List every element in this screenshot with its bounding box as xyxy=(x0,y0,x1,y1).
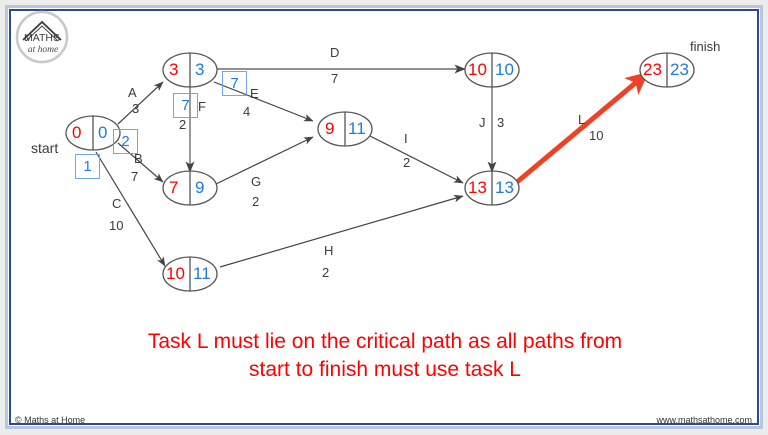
caption-line-2: start to finish must use task L xyxy=(55,356,715,384)
edge-I-duration: 2 xyxy=(403,156,410,169)
float-box-edge-B: 2 xyxy=(113,129,138,154)
float-box-edge-B-value: 2 xyxy=(121,133,129,150)
float-box-edge-E-value: 7 xyxy=(230,75,238,92)
edge-H-duration: 2 xyxy=(322,266,329,279)
caption-block: Task L must lie on the critical path as … xyxy=(55,328,715,385)
edge-A-task-label: A xyxy=(128,86,137,99)
edge-A-line xyxy=(118,82,163,124)
edge-I-line xyxy=(370,136,463,183)
node-finish-early-time: 23 xyxy=(643,61,662,78)
edge-I-task-label: I xyxy=(404,132,408,145)
edge-H-task-label: H xyxy=(324,244,333,257)
edge-L-task-label: L xyxy=(578,113,585,126)
node-finish-late-time: 23 xyxy=(670,61,689,78)
node-n7-early-time: 7 xyxy=(169,179,178,196)
float-box-edge-C-value: 1 xyxy=(83,158,91,175)
node-n7-late-time: 9 xyxy=(195,179,204,196)
edge-F-duration: 2 xyxy=(179,118,186,131)
float-box-edge-C: 1 xyxy=(75,154,100,179)
edge-G-task-label: G xyxy=(251,175,261,188)
node-n10a-early-time: 10 xyxy=(468,61,487,78)
node-n3-late-time: 3 xyxy=(195,61,204,78)
float-box-edge-F: 7 xyxy=(173,93,198,118)
footer-website[interactable]: www.mathsathome.com xyxy=(656,415,752,425)
float-box-edge-E: 7 xyxy=(222,71,247,96)
node-n13-early-time: 13 xyxy=(468,179,487,196)
node-n10b-early-time: 10 xyxy=(166,265,185,282)
edge-C-task-label: C xyxy=(112,197,121,210)
edge-G-line xyxy=(216,137,313,184)
finish-node-label: finish xyxy=(690,39,720,54)
edge-E-task-label: E xyxy=(250,87,259,100)
node-n9-late-time: 11 xyxy=(348,120,366,137)
edge-J-duration: 3 xyxy=(497,116,504,129)
edge-C-duration: 10 xyxy=(109,219,123,232)
slide-page: MATHS at home xyxy=(0,0,768,435)
caption-line-1: Task L must lie on the critical path as … xyxy=(55,328,715,356)
edge-L-line-critical xyxy=(517,75,645,182)
edge-F-task-label: F xyxy=(198,100,206,113)
edge-G-duration: 2 xyxy=(252,195,259,208)
edge-D-duration: 7 xyxy=(331,72,338,85)
edge-A-duration: 3 xyxy=(132,102,139,115)
node-n10a-late-time: 10 xyxy=(495,61,514,78)
edge-J-task-label: J xyxy=(479,116,486,129)
node-n3-early-time: 3 xyxy=(169,61,178,78)
edge-L-duration: 10 xyxy=(589,129,603,142)
edge-E-duration: 4 xyxy=(243,105,250,118)
node-n13-late-time: 13 xyxy=(495,179,514,196)
node-start-late-time: 0 xyxy=(98,124,107,141)
footer-copyright: © Maths at Home xyxy=(15,415,85,425)
node-n9-early-time: 9 xyxy=(325,120,334,137)
float-box-edge-F-value: 7 xyxy=(181,97,189,114)
edge-B-duration: 7 xyxy=(131,170,138,183)
node-start-early-time: 0 xyxy=(72,124,81,141)
start-node-label: start xyxy=(31,140,58,156)
edge-D-task-label: D xyxy=(330,46,339,59)
node-n10b-late-time: 11 xyxy=(193,265,211,282)
